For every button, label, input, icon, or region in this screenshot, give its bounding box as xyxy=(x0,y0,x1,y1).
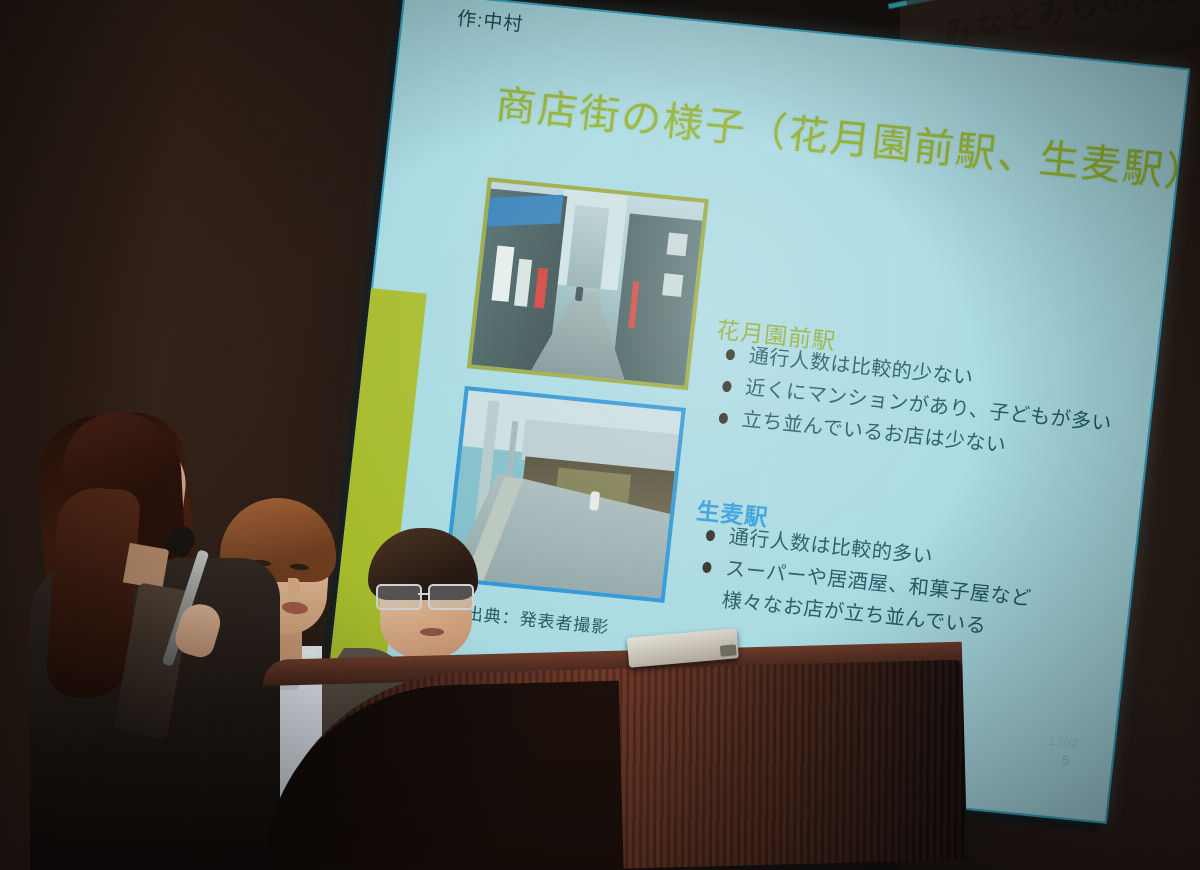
slide-title: 商店街の様子（花月園前駅、生麦駅） xyxy=(493,72,1190,201)
bullet-dot-icon xyxy=(722,381,732,393)
slide-photo-kagetsuen xyxy=(467,177,709,390)
slide-footer-mark: 1302 xyxy=(1048,734,1080,751)
bullet-dot-icon xyxy=(718,412,728,424)
wooden-podium xyxy=(262,642,967,870)
slide-number: 5 xyxy=(1061,752,1070,768)
bullet-dot-icon xyxy=(705,530,715,542)
street-scene-narrow xyxy=(471,182,704,386)
slide-byline: 作:中村 xyxy=(456,4,525,37)
bullet-dot-icon xyxy=(702,562,712,574)
slide-bullets-kagetsuen: 通行人数は比較的少ない 近くにマンションがあり、子どもが多い 立ち並んでいるお店… xyxy=(717,342,1117,476)
presenter-with-microphone xyxy=(30,408,300,870)
photograph-scene: みなとみらい大会議室 作:中村 商店街の様子（花月園前駅、生麦駅） xyxy=(0,0,1200,870)
slide-bullets-namamugi: 通行人数は比較的多い スーパーや居酒屋、和菓子屋など 様々なお店が立ち並んでいる xyxy=(697,523,1036,651)
bullet-dot-icon xyxy=(725,349,735,361)
